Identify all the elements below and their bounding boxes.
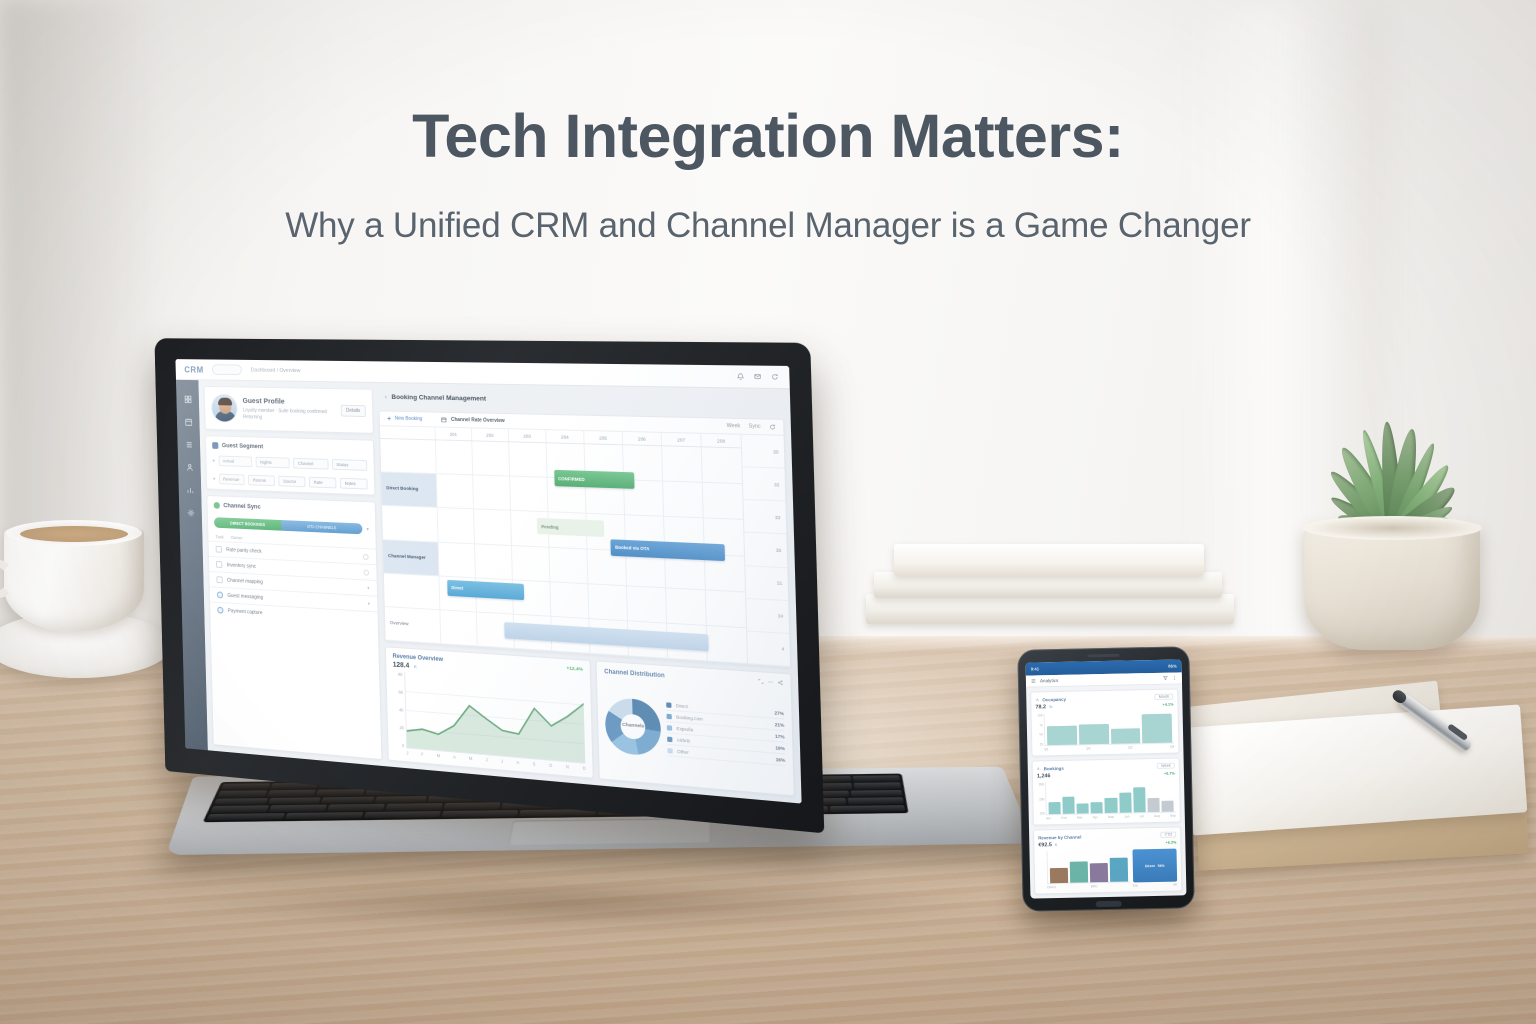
x-tick: Q3: [1128, 745, 1132, 749]
calendar-column-header[interactable]: 207: [661, 433, 701, 446]
segment-chip[interactable]: Rooms: [248, 475, 275, 486]
calendar-cell[interactable]: [509, 477, 547, 512]
revenue-channel-title: Revenue by Channel: [1038, 834, 1081, 840]
charts-row: Revenue Overview +12.4% 128.4 K 80604020…: [385, 646, 795, 796]
smartphone: 9:41 86% Analytics Occupancy Month 78.2 …: [1017, 646, 1194, 912]
calendar-cell[interactable]: [508, 442, 546, 477]
legend-label: Other: [677, 748, 689, 754]
key[interactable]: [269, 805, 328, 812]
key[interactable]: [848, 797, 904, 804]
x-tick: Jun: [1124, 815, 1129, 819]
revenue-chart-card: Revenue Overview +12.4% 128.4 K 80604020…: [385, 646, 594, 779]
revenue-area-series: [405, 672, 585, 762]
key[interactable]: [829, 805, 905, 812]
checkbox[interactable]: [216, 561, 222, 568]
distribution-body: Channels Direct27%Booking.com21%Expedia1…: [604, 675, 786, 788]
bar[interactable]: [1077, 804, 1089, 814]
new-booking-label: New Booking: [395, 416, 423, 423]
calendar-grid[interactable]: Direct Booking Channel Manager Overview …: [380, 426, 790, 667]
legend-swatch: [667, 736, 672, 742]
calendar-column-header[interactable]: 201: [435, 427, 472, 440]
legend-value: 21%: [775, 721, 785, 727]
menu-icon[interactable]: [1031, 678, 1036, 683]
calendar-cell[interactable]: [511, 546, 549, 581]
segment-chip[interactable]: Arrival: [218, 456, 252, 468]
calendar-cell[interactable]: [471, 441, 509, 475]
calendar-side-value: 35: [776, 548, 782, 554]
revenue-channel-plot: Direct 54%: [1039, 849, 1178, 885]
calendar-icon[interactable]: [184, 418, 192, 427]
x-tick: Mar: [1077, 816, 1083, 820]
potted-plant: [1268, 346, 1518, 676]
bar[interactable]: [1133, 787, 1146, 812]
y-tick: 80: [393, 671, 403, 677]
bookings-delta: +9.7%: [1164, 772, 1175, 776]
x-tick: M: [437, 753, 440, 758]
message-icon[interactable]: [754, 373, 762, 380]
legend-swatch: [667, 725, 672, 731]
booking-bar[interactable]: CONFIRMED: [554, 470, 634, 489]
laptop: CRM Dashboard / Overview: [118, 340, 1018, 920]
chevron-down-icon[interactable]: ▾: [368, 601, 370, 607]
key[interactable]: [853, 775, 900, 782]
key[interactable]: [217, 791, 267, 798]
bar[interactable]: [1079, 724, 1109, 744]
occupancy-bars: [1044, 711, 1175, 747]
calendar-side-row: 32: [743, 467, 786, 501]
phone-screen: 9:41 86% Analytics Occupancy Month 78.2 …: [1026, 659, 1187, 898]
chevron-down-icon[interactable]: ▾: [213, 458, 215, 464]
app-logo[interactable]: CRM: [184, 364, 204, 374]
profile-text: Guest Profile Loyalty member · Suite boo…: [242, 396, 335, 424]
legend-value: 27%: [774, 710, 784, 716]
key[interactable]: [316, 789, 365, 796]
chart-icon: [1035, 697, 1039, 701]
x-tick: Apr: [1093, 815, 1098, 819]
calendar-cells[interactable]: 201202203204205206207208 CONFIRMEDPendin…: [435, 427, 748, 664]
right-column: ‹ Booking Channel Management New Booking: [378, 383, 802, 804]
x-tick: A: [516, 760, 519, 765]
calendar-cell[interactable]: [706, 626, 747, 663]
bookings-metric: 1,246 +9.7%: [1037, 771, 1175, 780]
revenue-channel-card[interactable]: Revenue by Channel YTD €92.5 K +6.3% Dir…: [1033, 826, 1182, 894]
bar[interactable]: [1047, 726, 1077, 745]
y-tick: 100: [1038, 811, 1045, 815]
channel-sync-title: Channel Sync: [223, 502, 260, 510]
x-tick: Aug: [1154, 814, 1160, 818]
legend-value: 17%: [775, 733, 785, 739]
occupancy-delta: +4.1%: [1163, 703, 1174, 707]
status-dot-icon: [363, 569, 369, 575]
occupancy-title: Occupancy: [1042, 696, 1066, 701]
calendar-row-label: [382, 506, 438, 542]
guest-profile-card[interactable]: Guest Profile Loyalty member · Suite boo…: [204, 386, 374, 434]
chevron-down-icon[interactable]: ▾: [366, 526, 368, 532]
refresh-icon[interactable]: [771, 373, 779, 381]
legend-swatch: [666, 702, 671, 708]
topbar-icons: [737, 373, 779, 381]
calendar-side-value: 34: [778, 614, 784, 620]
y-tick: 40: [394, 707, 404, 713]
occupancy-value: 78.2: [1035, 704, 1046, 710]
x-tick: M: [469, 756, 473, 761]
list-item-label: Payment capture: [228, 608, 263, 616]
calendar-side-value: 31: [777, 581, 783, 587]
x-tick: Exp: [1133, 883, 1139, 887]
calendar-cell[interactable]: [587, 584, 627, 620]
calendar-cell[interactable]: [472, 475, 510, 510]
calendar-cell[interactable]: [473, 510, 511, 545]
bar[interactable]: [1091, 802, 1103, 813]
trackpad[interactable]: [509, 818, 711, 845]
distribution-actions: [758, 679, 783, 686]
revenue-chart-unit: K: [414, 664, 417, 669]
refresh-icon[interactable]: [769, 424, 776, 430]
bookings-badge[interactable]: Week: [1157, 763, 1175, 769]
more-icon[interactable]: [1172, 675, 1177, 680]
calendar-cell[interactable]: [661, 446, 702, 482]
segment-chip[interactable]: Rate: [309, 477, 336, 489]
calendar-side-values: 3032333531344: [741, 435, 791, 667]
checklist-col-task: Task: [215, 534, 223, 539]
x-tick: J: [406, 750, 408, 755]
breadcrumb: Dashboard / Overview: [251, 367, 301, 373]
calendar-cell[interactable]: [702, 483, 743, 519]
legend-value: 19%: [775, 745, 785, 751]
checklist-col-owner: Owner: [231, 535, 243, 540]
key[interactable]: [854, 783, 901, 790]
revenue-channel-delta: +6.3%: [1165, 841, 1176, 845]
bar[interactable]: [1070, 861, 1088, 882]
key[interactable]: [285, 812, 363, 819]
radio-button[interactable]: [217, 607, 223, 614]
y-tick: 300: [1037, 782, 1044, 786]
calendar-cell[interactable]: [705, 590, 746, 627]
y-tick: 0: [395, 742, 405, 748]
expand-icon[interactable]: [758, 679, 764, 685]
channel-sync-card: Channel Sync DIRECT BOOKINGS OTA CHANNEL…: [207, 495, 383, 760]
profile-name: Guest Profile: [242, 396, 334, 406]
legend-label: Direct: [676, 703, 688, 709]
list-item-label: Guest messaging: [227, 593, 263, 601]
key[interactable]: [321, 797, 374, 804]
users-icon[interactable]: [185, 463, 193, 472]
profile-details-button[interactable]: Details: [340, 405, 365, 417]
revenue-plot-area: [404, 672, 585, 764]
bar[interactable]: [1048, 802, 1060, 814]
bookings-plot: 300200100: [1037, 780, 1176, 816]
x-tick: Q1: [1044, 747, 1048, 751]
segment-chip[interactable]: Notes: [340, 478, 368, 490]
calendar-side-value: 30: [773, 449, 779, 454]
x-tick: A: [453, 754, 456, 759]
occupancy-unit: %: [1049, 705, 1052, 709]
calendar-row-label: Direct Booking: [381, 472, 436, 508]
occupancy-plot: 100755025: [1036, 711, 1175, 747]
chart-icon[interactable]: [186, 486, 194, 495]
avatar-hair: [218, 398, 232, 406]
radio-button[interactable]: [217, 591, 223, 598]
segment-chip[interactable]: Nights: [255, 457, 290, 469]
y-tick: 200: [1037, 797, 1044, 801]
calendar-cell[interactable]: [626, 586, 666, 622]
filter-icon[interactable]: [1163, 676, 1168, 681]
calendar-cell[interactable]: [548, 547, 587, 583]
calendar-row-label: [380, 439, 435, 474]
bell-icon[interactable]: [737, 373, 745, 380]
bookings-value: 1,246: [1037, 773, 1051, 779]
calendar-cell[interactable]: [439, 610, 476, 645]
pot-rim: [1302, 516, 1482, 540]
segment-chip[interactable]: Channel: [293, 458, 328, 470]
key[interactable]: [443, 802, 500, 809]
bookings-bars: [1045, 780, 1176, 816]
x-tick: Sep: [1170, 814, 1176, 818]
more-icon[interactable]: [768, 679, 774, 685]
dashboard-icon[interactable]: [184, 395, 192, 404]
avatar: [211, 394, 238, 423]
revenue-channel-callout[interactable]: Direct 54%: [1132, 849, 1177, 883]
calendar-cell[interactable]: [701, 447, 742, 483]
key[interactable]: [267, 797, 321, 804]
left-column: Guest Profile Loyalty member · Suite boo…: [198, 380, 388, 766]
y-tick: 60: [393, 689, 403, 695]
page-title: Tech Integration Matters:: [0, 104, 1536, 168]
calendar-column-header[interactable]: 202: [471, 428, 508, 441]
calendar-column-header[interactable]: 205: [583, 431, 622, 444]
key[interactable]: [441, 810, 518, 817]
share-icon[interactable]: [778, 680, 784, 686]
panel-title: Booking Channel Management: [391, 394, 486, 403]
occupancy-card[interactable]: Occupancy Month 78.2 % +4.1% 100755025 Q…: [1030, 688, 1179, 756]
calendar-cell[interactable]: [435, 440, 472, 474]
callout-line-1: Direct: [1145, 863, 1155, 867]
key[interactable]: [267, 790, 317, 797]
key[interactable]: [385, 803, 443, 810]
key[interactable]: [327, 804, 385, 811]
profile-row: Guest Profile Loyalty member · Suite boo…: [205, 387, 373, 433]
x-tick: F: [421, 752, 424, 757]
bookings-card[interactable]: Bookings Week 1,246 +9.7% 300200100 JanF…: [1032, 757, 1181, 825]
key[interactable]: [210, 805, 269, 812]
calendar-center-text: Channel Rate Overview: [451, 417, 505, 424]
x-tick: Jan: [1046, 816, 1051, 820]
calendar-cell[interactable]: [436, 474, 473, 508]
list-item-label: Rate parity check: [226, 547, 262, 554]
x-tick: Air: [1173, 883, 1177, 887]
calendar-row-labels: Direct Booking Channel Manager Overview: [380, 426, 440, 644]
laptop-screen: CRM Dashboard / Overview: [175, 359, 801, 804]
bar[interactable]: [1110, 729, 1140, 744]
callout-line-2: 54%: [1158, 863, 1165, 867]
calendar-center-label: Channel Rate Overview: [441, 417, 504, 424]
legend-swatch: [668, 748, 673, 754]
calendar-row-label: [384, 573, 440, 610]
x-tick: Q4: [1170, 745, 1174, 749]
phone-nav-actions: [1163, 675, 1177, 680]
calendar-side-row: 31: [745, 566, 788, 601]
bar[interactable]: [1119, 793, 1132, 813]
x-tick: Q2: [1086, 746, 1090, 750]
key[interactable]: [221, 783, 271, 790]
gear-icon[interactable]: [187, 508, 195, 517]
distribution-chart-card: Channel Distribution: [596, 660, 795, 796]
legend-label: Expedia: [676, 725, 693, 732]
crm-app: CRM Dashboard / Overview: [175, 359, 801, 804]
bar[interactable]: [1142, 713, 1172, 743]
phone-content: Occupancy Month 78.2 % +4.1% 100755025 Q…: [1026, 684, 1186, 898]
y-tick: 20: [394, 725, 404, 731]
ota-channels-segment: OTA CHANNELS: [281, 520, 363, 534]
calendar-cell[interactable]: [665, 588, 706, 625]
y-tick: 50: [1036, 733, 1043, 737]
calendar-icon: [441, 417, 447, 423]
calendar-cell[interactable]: [438, 542, 475, 577]
key[interactable]: [374, 796, 427, 803]
revenue-channel-metric: €92.5 K +6.3%: [1038, 840, 1176, 849]
key[interactable]: [363, 811, 441, 818]
guest-segment-title: Guest Segment: [222, 442, 264, 450]
search-input[interactable]: [212, 364, 242, 375]
revenue-channel-bars: [1047, 850, 1131, 885]
list-icon[interactable]: [185, 440, 193, 449]
x-tick: Jul: [1140, 814, 1144, 818]
key[interactable]: [851, 790, 903, 797]
panel-header: ‹ Booking Channel Management: [378, 389, 784, 414]
plus-icon: [386, 415, 392, 421]
bar[interactable]: [1110, 858, 1128, 882]
checkbox[interactable]: [216, 546, 222, 553]
key[interactable]: [207, 813, 286, 820]
status-dot-icon: [363, 553, 369, 559]
calendar-row-label: Channel Manager: [383, 540, 439, 576]
calendar-toolbar-right: Week Sync: [727, 423, 776, 430]
donut-chart: Channels: [605, 696, 662, 756]
chart-icon: [1037, 766, 1041, 770]
y-tick: 75: [1036, 723, 1043, 727]
revenue-plot: 806040200: [393, 671, 586, 763]
direct-bookings-segment: DIRECT BOOKINGS: [214, 517, 282, 530]
phone-clock: 9:41: [1031, 666, 1039, 671]
calendar-sync-label[interactable]: Sync: [749, 423, 761, 430]
bar[interactable]: [1050, 867, 1068, 883]
calendar-side-row: 4: [747, 631, 790, 667]
calendar-side-row: 30: [742, 435, 785, 469]
calendar-row-label: Overview: [385, 607, 441, 644]
segment-chip[interactable]: Revenue: [219, 474, 246, 485]
segment-chip[interactable]: Source: [279, 476, 306, 488]
legend-value: 16%: [776, 756, 786, 762]
bookings-title: Bookings: [1044, 765, 1064, 770]
chevron-down-icon[interactable]: ▾: [367, 585, 369, 591]
calendar-side-value: 33: [775, 515, 781, 521]
page-subtitle: Why a Unified CRM and Channel Manager is…: [0, 206, 1536, 246]
calendar-column-header[interactable]: 208: [700, 434, 741, 448]
calendar-cell[interactable]: [474, 544, 512, 579]
x-tick: J: [501, 759, 503, 764]
app-body: Guest Profile Loyalty member · Suite boo…: [176, 380, 802, 804]
segment-chip[interactable]: Status: [332, 459, 368, 471]
guest-segment-card: Guest Segment ▾ Arrival Nights Channel S…: [205, 435, 375, 495]
calendar-column-header[interactable]: 203: [508, 429, 546, 442]
chevron-down-icon[interactable]: ▾: [213, 476, 215, 482]
booking-calendar-card: New Booking Channel Rate Overview Week S…: [379, 410, 792, 668]
plant-pot: [1304, 522, 1480, 650]
calendar-cell[interactable]: [437, 508, 474, 543]
phone-nav-title: Analytics: [1040, 678, 1058, 683]
cup-handle: [0, 560, 14, 598]
laptop-lid: CRM Dashboard / Overview: [154, 338, 824, 833]
calendar-side-value: 32: [774, 482, 780, 487]
revenue-chart-value: 128.4: [393, 662, 410, 670]
calendar-cell[interactable]: [549, 582, 588, 618]
x-tick: O: [549, 763, 552, 768]
phone-battery: 86%: [1168, 663, 1176, 668]
revenue-channel-badge[interactable]: YTD: [1161, 832, 1177, 838]
checkbox[interactable]: [216, 576, 222, 583]
status-badge: [214, 502, 220, 509]
booking-bar[interactable]: Pending: [537, 518, 604, 537]
coffee-liquid: [20, 526, 128, 542]
segment-badge-icon: [212, 442, 218, 449]
phone-home-button[interactable]: [1096, 901, 1122, 908]
calendar-cell[interactable]: [662, 482, 703, 518]
bar[interactable]: [1147, 798, 1159, 812]
calendar-side-row: 34: [746, 599, 789, 634]
back-arrow-icon[interactable]: ‹: [385, 394, 387, 401]
x-tick: D: [583, 766, 586, 771]
occupancy-badge[interactable]: Month: [1155, 694, 1174, 700]
y-tick: 100: [1036, 713, 1043, 717]
revenue-channel-unit: K: [1055, 843, 1058, 847]
list-item-label: Channel mapping: [227, 577, 263, 585]
legend-label: Booking.com: [676, 714, 703, 721]
calendar-column-header[interactable]: 206: [622, 432, 661, 445]
x-tick: BDC: [1091, 884, 1098, 888]
calendar-side-row: 35: [744, 533, 787, 568]
bar[interactable]: [1062, 797, 1074, 814]
x-tick: S: [533, 761, 536, 766]
calendar-week-label[interactable]: Week: [727, 423, 741, 430]
key[interactable]: [214, 798, 268, 805]
new-booking-button[interactable]: New Booking: [386, 415, 422, 422]
headline-block: Tech Integration Matters: Why a Unified …: [0, 104, 1536, 246]
calendar-side-row: 33: [743, 500, 786, 535]
occupancy-metric: 78.2 % +4.1%: [1035, 702, 1173, 711]
legend-label: Airbnb: [677, 737, 690, 743]
bar[interactable]: [1161, 801, 1173, 812]
legend-swatch: [667, 713, 672, 719]
x-tick: N: [566, 764, 569, 769]
bar[interactable]: [1090, 863, 1108, 882]
x-tick: Feb: [1061, 816, 1067, 820]
phone-speaker: [1087, 654, 1119, 658]
y-tick: 25: [1036, 742, 1043, 746]
x-tick: May: [1108, 815, 1114, 819]
calendar-column-header[interactable]: 204: [545, 430, 583, 443]
list-item-label: Inventory sync: [227, 562, 257, 569]
calendar-side-value: 4: [781, 647, 784, 652]
bar[interactable]: [1105, 798, 1117, 813]
x-tick: Direct: [1047, 885, 1055, 889]
x-tick: J: [486, 757, 488, 762]
donut-legend: Direct27%Booking.com21%Expedia17%Airbnb1…: [666, 702, 785, 766]
revenue-channel-value: €92.5: [1038, 842, 1052, 848]
